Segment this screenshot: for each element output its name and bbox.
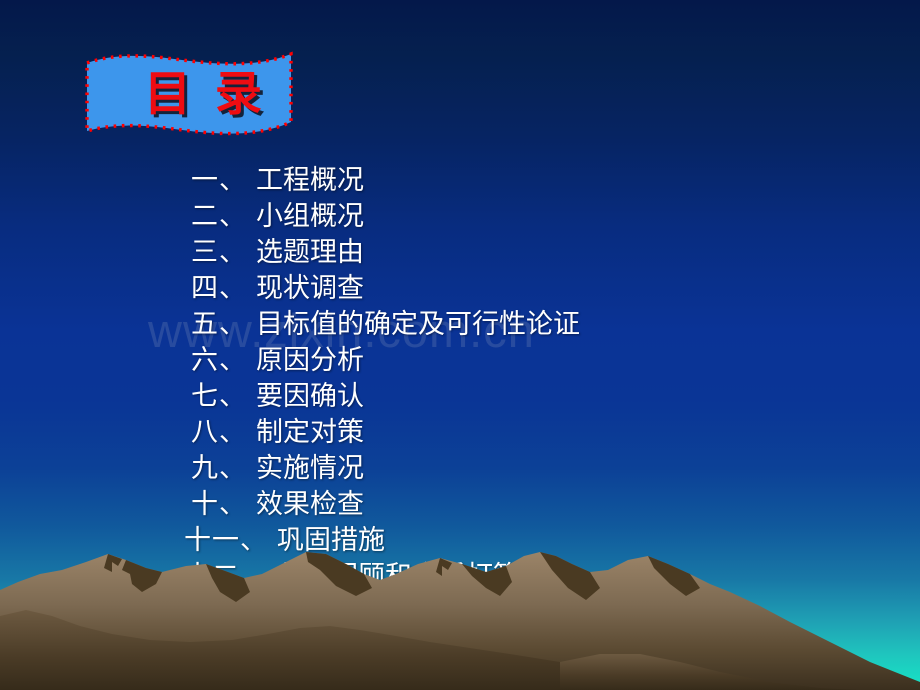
toc-item[interactable]: 十一、巩固措施 [0, 522, 920, 558]
toc-item-number: 十二、 [184, 561, 268, 591]
toc-item-number: 八、 [191, 417, 247, 447]
toc-item-number: 六、 [191, 345, 247, 375]
toc-item-label: 制定对策 [256, 417, 364, 447]
toc-item-label: 小组概况 [256, 201, 364, 231]
toc-item-label: 原因分析 [256, 345, 364, 375]
table-of-contents: 一、工程概况二、小组概况三、选题理由四、现状调查五、目标值的确定及可行性论证六、… [0, 162, 920, 594]
toc-item[interactable]: 一、工程概况 [0, 162, 920, 198]
toc-item-label: 效果检查 [256, 489, 364, 519]
toc-item[interactable]: 十、效果检查 [0, 486, 920, 522]
toc-item-label: 要因确认 [256, 381, 364, 411]
toc-item-label: 工程概况 [256, 165, 364, 195]
toc-item[interactable]: 二、小组概况 [0, 198, 920, 234]
toc-item[interactable]: 七、要因确认 [0, 378, 920, 414]
toc-item-number: 七、 [191, 381, 247, 411]
toc-item[interactable]: 五、目标值的确定及可行性论证 [0, 306, 920, 342]
toc-item-number: 二、 [191, 201, 247, 231]
toc-item[interactable]: 十二、总结回顾和今后打算 [0, 558, 920, 594]
toc-item-label: 选题理由 [256, 237, 364, 267]
title-banner: 目 录 [78, 30, 300, 148]
presentation-slide: www.zixin.com.cn 目 录 一、工程概况二、小组概况三、选题理由四… [0, 0, 920, 690]
toc-item-label: 总结回顾和今后打算 [277, 561, 520, 591]
toc-item-label: 现状调查 [256, 273, 364, 303]
toc-item-label: 实施情况 [256, 453, 364, 483]
toc-item[interactable]: 九、实施情况 [0, 450, 920, 486]
toc-item-number: 十一、 [184, 525, 268, 555]
toc-item[interactable]: 三、选题理由 [0, 234, 920, 270]
toc-item[interactable]: 四、现状调查 [0, 270, 920, 306]
banner-title-text: 目 录 [78, 30, 300, 148]
toc-item-number: 三、 [191, 237, 247, 267]
toc-item-number: 九、 [191, 453, 247, 483]
toc-item-number: 五、 [191, 309, 247, 339]
toc-item-label: 巩固措施 [277, 525, 385, 555]
toc-item[interactable]: 八、制定对策 [0, 414, 920, 450]
toc-item-number: 四、 [191, 273, 247, 303]
toc-item-label: 目标值的确定及可行性论证 [256, 309, 580, 339]
toc-item[interactable]: 六、原因分析 [0, 342, 920, 378]
toc-item-number: 十、 [191, 489, 247, 519]
toc-item-number: 一、 [191, 165, 247, 195]
